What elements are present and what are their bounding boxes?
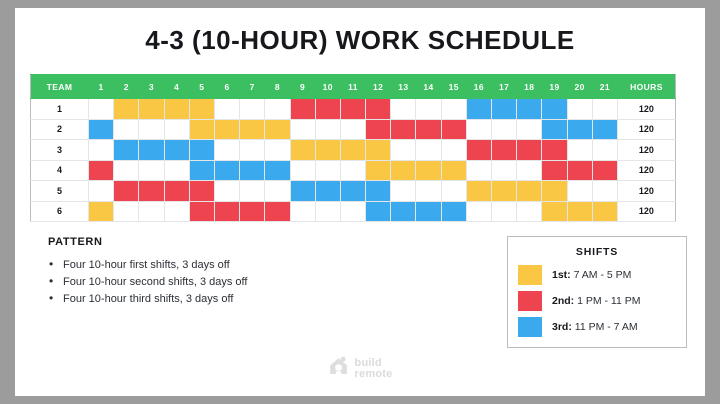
shift-cell-team4-day1 — [89, 160, 114, 181]
team-label-4: 4 — [31, 160, 89, 181]
column-header-day-20: 20 — [567, 75, 592, 99]
shift-cell-team1-day1 — [89, 99, 114, 120]
shift-cell-team3-day6 — [214, 140, 239, 161]
shift-cell-team5-day6 — [214, 181, 239, 202]
buildremote-logo-text: build remote — [355, 358, 393, 379]
logo-line-2: remote — [355, 368, 393, 380]
legend-swatch-s3 — [518, 317, 542, 337]
page-title: 4-3 (10-HOUR) WORK SCHEDULE — [15, 8, 705, 56]
shift-cell-team1-day11 — [340, 99, 365, 120]
schedule-table: TEAM 123456789101112131415161718192021HO… — [30, 74, 676, 222]
legend-label-s1: 1st: 7 AM - 5 PM — [552, 269, 631, 281]
table-row: 5120 — [31, 181, 676, 202]
shift-cell-team1-day12 — [366, 99, 391, 120]
shift-cell-team3-day19 — [542, 140, 567, 161]
shift-cell-team5-day17 — [492, 181, 517, 202]
shift-cell-team3-day21 — [592, 140, 617, 161]
column-header-day-7: 7 — [240, 75, 265, 99]
shift-cell-team3-day11 — [340, 140, 365, 161]
shift-cell-team3-day8 — [265, 140, 290, 161]
shift-cell-team4-day16 — [466, 160, 491, 181]
pattern-item-3: Four 10-hour third shifts, 3 days off — [48, 291, 247, 308]
shift-cell-team4-day20 — [567, 160, 592, 181]
pattern-item-2: Four 10-hour second shifts, 3 days off — [48, 274, 247, 291]
column-header-day-18: 18 — [517, 75, 542, 99]
pattern-title: PATTERN — [48, 236, 247, 248]
shift-cell-team1-day18 — [517, 99, 542, 120]
shift-cell-team1-day6 — [214, 99, 239, 120]
shift-cell-team6-day18 — [517, 201, 542, 222]
pattern-list: Four 10-hour first shifts, 3 days offFou… — [48, 257, 247, 308]
shift-cell-team6-day10 — [315, 201, 340, 222]
legend-rows: 1st: 7 AM - 5 PM2nd: 1 PM - 11 PM3rd: 11… — [518, 265, 676, 337]
shift-cell-team5-day19 — [542, 181, 567, 202]
shift-cell-team6-day3 — [139, 201, 164, 222]
shift-cell-team6-day14 — [416, 201, 441, 222]
shift-cell-team3-day12 — [366, 140, 391, 161]
shift-cell-team1-day20 — [567, 99, 592, 120]
shift-cell-team4-day19 — [542, 160, 567, 181]
shift-cell-team1-day14 — [416, 99, 441, 120]
shift-cell-team2-day3 — [139, 119, 164, 140]
shift-cell-team6-day11 — [340, 201, 365, 222]
shift-cell-team3-day20 — [567, 140, 592, 161]
table-row: 4120 — [31, 160, 676, 181]
shift-cell-team2-day7 — [240, 119, 265, 140]
legend-item-s1: 1st: 7 AM - 5 PM — [518, 265, 676, 285]
shift-cell-team4-day7 — [240, 160, 265, 181]
shift-cell-team5-day12 — [366, 181, 391, 202]
column-header-day-15: 15 — [441, 75, 466, 99]
shift-cell-team4-day14 — [416, 160, 441, 181]
shift-cell-team3-day13 — [391, 140, 416, 161]
shift-cell-team6-day5 — [189, 201, 214, 222]
shift-cell-team4-day15 — [441, 160, 466, 181]
team-label-5: 5 — [31, 181, 89, 202]
column-header-day-8: 8 — [265, 75, 290, 99]
shift-cell-team5-day20 — [567, 181, 592, 202]
shift-cell-team6-day1 — [89, 201, 114, 222]
shift-cell-team2-day20 — [567, 119, 592, 140]
shift-cell-team5-day10 — [315, 181, 340, 202]
column-header-day-11: 11 — [340, 75, 365, 99]
shift-cell-team1-day8 — [265, 99, 290, 120]
table-row: 6120 — [31, 201, 676, 222]
column-header-day-14: 14 — [416, 75, 441, 99]
hours-value-team2: 120 — [617, 119, 675, 140]
hours-value-team4: 120 — [617, 160, 675, 181]
shift-cell-team2-day13 — [391, 119, 416, 140]
schedule-table-wrapper: TEAM 123456789101112131415161718192021HO… — [30, 74, 690, 222]
shift-cell-team4-day9 — [290, 160, 315, 181]
team-label-2: 2 — [31, 119, 89, 140]
legend-title: SHIFTS — [518, 246, 676, 258]
shift-cell-team4-day6 — [214, 160, 239, 181]
shift-cell-team5-day3 — [139, 181, 164, 202]
shift-cell-team6-day15 — [441, 201, 466, 222]
shift-cell-team4-day18 — [517, 160, 542, 181]
legend-item-s2: 2nd: 1 PM - 11 PM — [518, 291, 676, 311]
shift-cell-team5-day9 — [290, 181, 315, 202]
shift-cell-team6-day21 — [592, 201, 617, 222]
shift-cell-team3-day15 — [441, 140, 466, 161]
team-label-1: 1 — [31, 99, 89, 120]
table-row: 2120 — [31, 119, 676, 140]
column-header-day-12: 12 — [366, 75, 391, 99]
shift-cell-team2-day15 — [441, 119, 466, 140]
table-row: 1120 — [31, 99, 676, 120]
schedule-table-body: 112021203120412051206120 — [31, 99, 676, 222]
shift-cell-team4-day12 — [366, 160, 391, 181]
shift-cell-team4-day11 — [340, 160, 365, 181]
shift-cell-team6-day7 — [240, 201, 265, 222]
buildremote-watermark: build remote — [328, 355, 393, 382]
shift-cell-team4-day8 — [265, 160, 290, 181]
shift-cell-team3-day4 — [164, 140, 189, 161]
shift-cell-team4-day2 — [114, 160, 139, 181]
shift-cell-team2-day8 — [265, 119, 290, 140]
shift-cell-team5-day11 — [340, 181, 365, 202]
pattern-item-1: Four 10-hour first shifts, 3 days off — [48, 257, 247, 274]
shift-cell-team1-day5 — [189, 99, 214, 120]
shift-cell-team6-day6 — [214, 201, 239, 222]
shift-cell-team2-day12 — [366, 119, 391, 140]
shift-cell-team1-day10 — [315, 99, 340, 120]
schedule-card: 4-3 (10-HOUR) WORK SCHEDULE TEAM 1234567… — [15, 8, 705, 396]
shift-cell-team6-day19 — [542, 201, 567, 222]
shift-cell-team2-day2 — [114, 119, 139, 140]
column-header-team: TEAM — [31, 75, 89, 99]
shift-cell-team2-day19 — [542, 119, 567, 140]
shift-cell-team1-day16 — [466, 99, 491, 120]
shift-cell-team1-day17 — [492, 99, 517, 120]
shift-cell-team5-day7 — [240, 181, 265, 202]
shift-cell-team3-day18 — [517, 140, 542, 161]
shift-cell-team3-day2 — [114, 140, 139, 161]
shift-cell-team1-day4 — [164, 99, 189, 120]
column-header-day-3: 3 — [139, 75, 164, 99]
shift-cell-team2-day4 — [164, 119, 189, 140]
shift-cell-team3-day3 — [139, 140, 164, 161]
shift-cell-team4-day21 — [592, 160, 617, 181]
shift-cell-team1-day2 — [114, 99, 139, 120]
shift-cell-team5-day15 — [441, 181, 466, 202]
shift-cell-team4-day10 — [315, 160, 340, 181]
shift-cell-team6-day2 — [114, 201, 139, 222]
buildremote-logo-icon — [328, 355, 350, 382]
team-label-3: 3 — [31, 140, 89, 161]
pattern-section: PATTERN Four 10-hour first shifts, 3 day… — [30, 236, 247, 308]
shift-cell-team3-day7 — [240, 140, 265, 161]
shift-cell-team2-day5 — [189, 119, 214, 140]
shift-cell-team6-day13 — [391, 201, 416, 222]
hours-value-team6: 120 — [617, 201, 675, 222]
shift-cell-team4-day3 — [139, 160, 164, 181]
shift-cell-team2-day18 — [517, 119, 542, 140]
hours-value-team5: 120 — [617, 181, 675, 202]
shift-cell-team2-day17 — [492, 119, 517, 140]
shift-cell-team4-day13 — [391, 160, 416, 181]
shift-cell-team3-day16 — [466, 140, 491, 161]
shift-cell-team2-day14 — [416, 119, 441, 140]
table-row: 3120 — [31, 140, 676, 161]
shift-cell-team2-day1 — [89, 119, 114, 140]
shift-cell-team5-day8 — [265, 181, 290, 202]
shift-cell-team2-day16 — [466, 119, 491, 140]
shift-cell-team1-day9 — [290, 99, 315, 120]
shift-cell-team5-day1 — [89, 181, 114, 202]
column-header-day-13: 13 — [391, 75, 416, 99]
lower-section: PATTERN Four 10-hour first shifts, 3 day… — [15, 236, 705, 348]
shift-cell-team6-day17 — [492, 201, 517, 222]
shift-cell-team2-day9 — [290, 119, 315, 140]
shift-cell-team2-day10 — [315, 119, 340, 140]
shift-cell-team2-day6 — [214, 119, 239, 140]
column-header-day-4: 4 — [164, 75, 189, 99]
team-label-6: 6 — [31, 201, 89, 222]
shift-cell-team5-day2 — [114, 181, 139, 202]
shift-cell-team6-day16 — [466, 201, 491, 222]
column-header-day-10: 10 — [315, 75, 340, 99]
shift-cell-team5-day5 — [189, 181, 214, 202]
legend-label-s3: 3rd: 11 PM - 7 AM — [552, 321, 638, 333]
shift-cell-team5-day18 — [517, 181, 542, 202]
shift-cell-team5-day13 — [391, 181, 416, 202]
column-header-hours: HOURS — [617, 75, 675, 99]
column-header-day-5: 5 — [189, 75, 214, 99]
shift-cell-team1-day7 — [240, 99, 265, 120]
shift-cell-team6-day9 — [290, 201, 315, 222]
hours-value-team3: 120 — [617, 140, 675, 161]
shift-cell-team1-day19 — [542, 99, 567, 120]
shift-cell-team4-day5 — [189, 160, 214, 181]
legend-swatch-s2 — [518, 291, 542, 311]
hours-value-team1: 120 — [617, 99, 675, 120]
shift-cell-team5-day16 — [466, 181, 491, 202]
legend-label-s2: 2nd: 1 PM - 11 PM — [552, 295, 641, 307]
shift-cell-team4-day4 — [164, 160, 189, 181]
legend-swatch-s1 — [518, 265, 542, 285]
shift-cell-team3-day1 — [89, 140, 114, 161]
shift-cell-team6-day20 — [567, 201, 592, 222]
shift-cell-team4-day17 — [492, 160, 517, 181]
column-header-day-1: 1 — [89, 75, 114, 99]
shift-cell-team1-day15 — [441, 99, 466, 120]
shift-cell-team6-day8 — [265, 201, 290, 222]
column-header-day-17: 17 — [492, 75, 517, 99]
shift-cell-team1-day13 — [391, 99, 416, 120]
schedule-table-head: TEAM 123456789101112131415161718192021HO… — [31, 75, 676, 99]
shift-cell-team2-day21 — [592, 119, 617, 140]
shift-cell-team3-day14 — [416, 140, 441, 161]
shift-cell-team5-day4 — [164, 181, 189, 202]
shift-cell-team5-day21 — [592, 181, 617, 202]
shift-cell-team6-day12 — [366, 201, 391, 222]
shift-cell-team6-day4 — [164, 201, 189, 222]
column-header-day-6: 6 — [214, 75, 239, 99]
column-header-day-16: 16 — [466, 75, 491, 99]
shift-cell-team1-day3 — [139, 99, 164, 120]
shift-cell-team1-day21 — [592, 99, 617, 120]
shift-cell-team2-day11 — [340, 119, 365, 140]
legend-item-s3: 3rd: 11 PM - 7 AM — [518, 317, 676, 337]
column-header-day-2: 2 — [114, 75, 139, 99]
column-header-day-9: 9 — [290, 75, 315, 99]
header-row: TEAM 123456789101112131415161718192021HO… — [31, 75, 676, 99]
column-header-day-19: 19 — [542, 75, 567, 99]
column-header-day-21: 21 — [592, 75, 617, 99]
shift-legend: SHIFTS 1st: 7 AM - 5 PM2nd: 1 PM - 11 PM… — [507, 236, 687, 348]
shift-cell-team3-day9 — [290, 140, 315, 161]
shift-cell-team5-day14 — [416, 181, 441, 202]
shift-cell-team3-day17 — [492, 140, 517, 161]
shift-cell-team3-day5 — [189, 140, 214, 161]
shift-cell-team3-day10 — [315, 140, 340, 161]
